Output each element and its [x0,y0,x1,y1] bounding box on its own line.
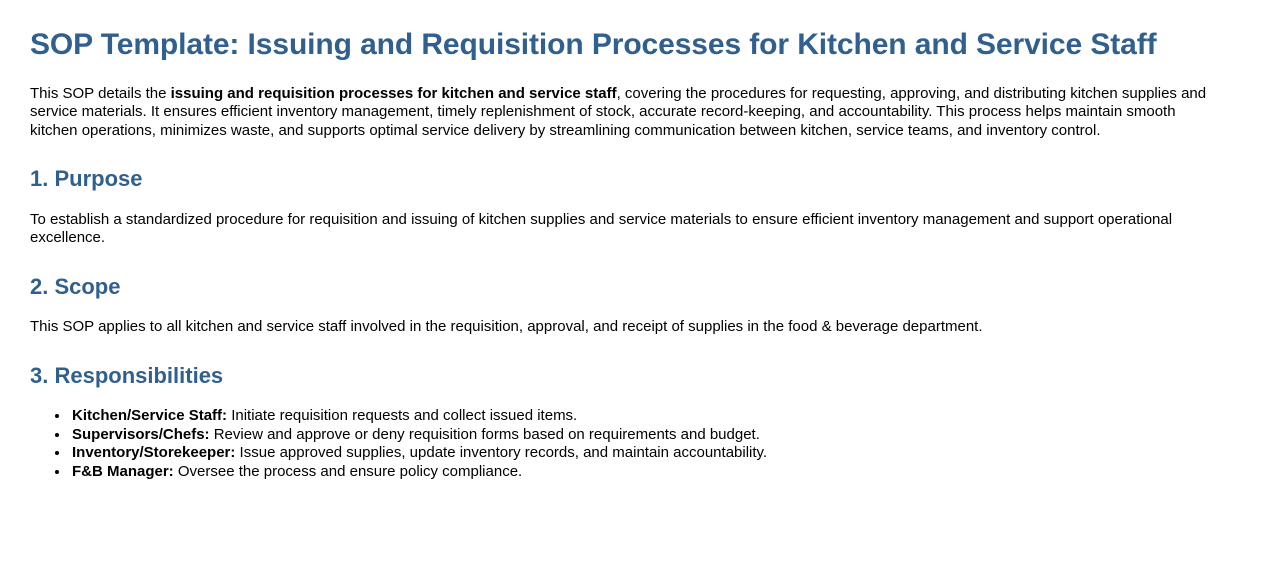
list-item: Inventory/Storekeeper: Issue approved su… [70,444,1225,463]
section-heading-scope: 2. Scope [30,274,1225,300]
section-heading-responsibilities: 3. Responsibilities [30,363,1225,389]
intro-text-before-bold: This SOP details the [30,85,171,102]
responsibility-description: Oversee the process and ensure policy co… [174,463,523,480]
intro-paragraph: This SOP details the issuing and requisi… [30,85,1225,141]
responsibility-description: Issue approved supplies, update inventor… [235,444,767,461]
responsibility-description: Initiate requisition requests and collec… [227,407,577,424]
section-body-scope: This SOP applies to all kitchen and serv… [30,318,1190,337]
intro-bold-phrase: issuing and requisition processes for ki… [171,85,617,102]
responsibilities-list: Kitchen/Service Staff: Initiate requisit… [30,407,1225,481]
list-item: F&B Manager: Oversee the process and ens… [70,463,1225,482]
list-item: Supervisors/Chefs: Review and approve or… [70,426,1225,445]
responsibility-role: Supervisors/Chefs: [72,426,210,443]
responsibility-role: Kitchen/Service Staff: [72,407,227,424]
list-item: Kitchen/Service Staff: Initiate requisit… [70,407,1225,426]
section-body-purpose: To establish a standardized procedure fo… [30,211,1190,248]
responsibility-description: Review and approve or deny requisition f… [210,426,760,443]
document-title: SOP Template: Issuing and Requisition Pr… [30,26,1190,64]
document-page: SOP Template: Issuing and Requisition Pr… [0,0,1263,482]
section-heading-purpose: 1. Purpose [30,166,1225,192]
responsibility-role: F&B Manager: [72,463,174,480]
responsibility-role: Inventory/Storekeeper: [72,444,235,461]
